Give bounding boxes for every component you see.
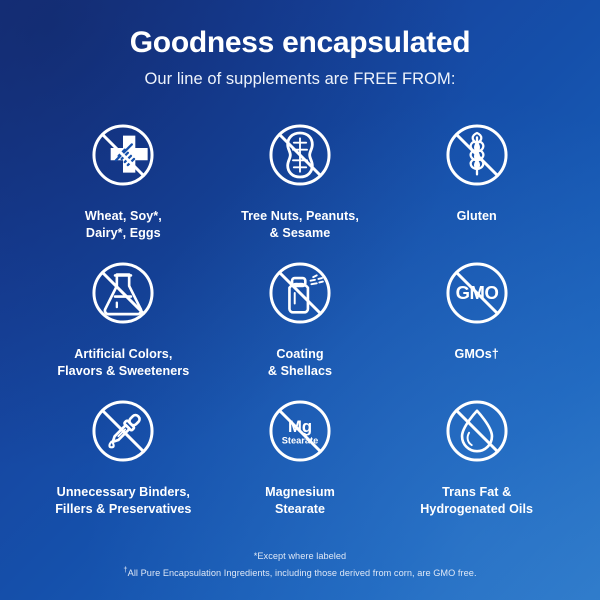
free-from-item-label: Trans Fat & Hydrogenated Oils xyxy=(420,484,533,517)
no-coating-spray-can-icon xyxy=(256,249,344,337)
no-gmo-icon: GMO xyxy=(433,249,521,337)
footnote-except-where-labeled: *Except where labeled xyxy=(0,549,600,565)
free-from-item-label: Coating & Shellacs xyxy=(268,346,332,379)
no-trans-fat-droplet-icon xyxy=(433,387,521,475)
free-from-item-label: Artificial Colors, Flavors & Sweeteners xyxy=(57,346,189,379)
free-from-item-label: Unnecessary Binders, Fillers & Preservat… xyxy=(55,484,191,517)
no-artificial-colors-flask-icon xyxy=(79,249,167,337)
free-from-item-gmos: GMO GMOs† xyxy=(388,249,565,387)
page-subtitle: Our line of supplements are FREE FROM: xyxy=(0,70,600,89)
no-magnesium-stearate-icon: Mg Stearate xyxy=(256,387,344,475)
page-title: Goodness encapsulated xyxy=(0,26,600,59)
free-from-item-label: GMOs† xyxy=(454,346,498,363)
free-from-item-label: Tree Nuts, Peanuts, & Sesame xyxy=(241,208,359,241)
free-from-item-artificial-colors: Artificial Colors, Flavors & Sweeteners xyxy=(35,249,212,387)
free-from-item-binders-fillers-preservatives: Unnecessary Binders, Fillers & Preservat… xyxy=(35,387,212,525)
no-peanut-icon xyxy=(256,111,344,199)
no-binders-fillers-dropper-icon xyxy=(79,387,167,475)
free-from-item-trans-fat-hydrogenated-oils: Trans Fat & Hydrogenated Oils xyxy=(388,387,565,525)
free-from-item-label: Magnesium Stearate xyxy=(265,484,335,517)
free-from-item-coating-shellacs: Coating & Shellacs xyxy=(212,249,389,387)
free-from-item-wheat-soy-dairy-eggs: Wheat, Soy*, Dairy*, Eggs xyxy=(35,111,212,249)
free-from-item-gluten: Gluten xyxy=(388,111,565,249)
promo-poster: Goodness encapsulated Our line of supple… xyxy=(0,0,600,600)
poster-footer: *Except where labeled †All Pure Encapsul… xyxy=(0,549,600,582)
free-from-item-label: Gluten xyxy=(457,208,497,225)
free-from-item-magnesium-stearate: Mg Stearate Magnesium Stearate xyxy=(212,387,389,525)
no-gluten-wheat-stalk-icon xyxy=(433,111,521,199)
no-wheat-soy-dairy-eggs-icon xyxy=(79,111,167,199)
free-from-item-tree-nuts-peanuts-sesame: Tree Nuts, Peanuts, & Sesame xyxy=(212,111,389,249)
footnote-gmo-free-text: All Pure Encapsulation Ingredients, incl… xyxy=(128,568,477,578)
free-from-item-label: Wheat, Soy*, Dairy*, Eggs xyxy=(85,208,162,241)
poster-header: Goodness encapsulated Our line of supple… xyxy=(0,0,600,89)
footnote-gmo-free: †All Pure Encapsulation Ingredients, inc… xyxy=(0,564,600,582)
free-from-grid: Wheat, Soy*, Dairy*, Eggs xyxy=(35,111,565,525)
